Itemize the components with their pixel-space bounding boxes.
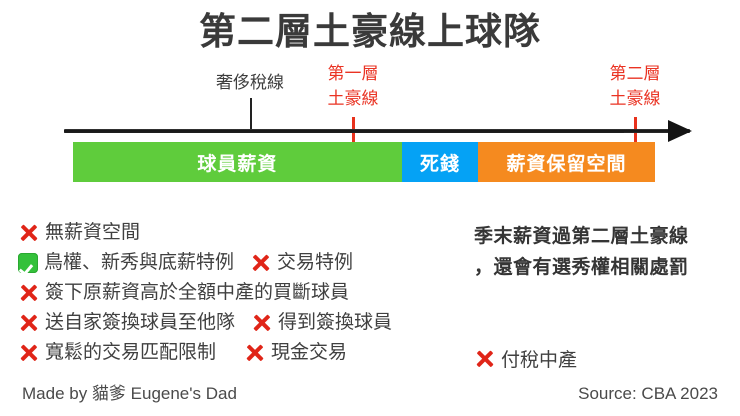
cross-icon [18, 223, 39, 244]
bar-segment-player-salary: 球員薪資 [73, 142, 402, 182]
axis-arrow-icon [668, 120, 692, 142]
footer-credit: Made by 貓爹 Eugene's Dad [22, 379, 237, 404]
restriction-label: 寬鬆的交易匹配限制 [45, 342, 216, 364]
list-item: 寬鬆的交易匹配限制 現金交易 [18, 338, 488, 368]
tick-luxury-tax-line [250, 98, 252, 131]
axis-label-luxury-tax-line: 奢侈稅線 [190, 72, 310, 93]
restriction-label: 交易特例 [277, 252, 353, 274]
bar-segment-salary-reserve-space: 薪資保留空間 [478, 142, 655, 182]
axis-label-first-apron-line1: 第一層 [313, 63, 393, 84]
restriction-label: 得到簽換球員 [278, 312, 392, 334]
list-item: 無薪資空間 [18, 218, 488, 248]
penalty-note-line-1: 季末薪資過第二層土豪線 [474, 221, 726, 252]
list-item: 簽下原薪資高於全額中產的買斷球員 [18, 278, 488, 308]
cross-icon [18, 313, 39, 334]
salary-cap-bar: 球員薪資 死錢 薪資保留空間 [73, 142, 655, 182]
restriction-label: 無薪資空間 [45, 222, 140, 244]
check-icon [18, 253, 38, 273]
axis-label-first-apron-line2: 土豪線 [313, 88, 393, 109]
bar-segment-dead-money: 死錢 [402, 142, 478, 182]
restriction-item: 簽下原薪資高於全額中產的買斷球員 [18, 282, 349, 304]
page-title: 第二層土豪線上球隊 [0, 8, 740, 56]
infographic-canvas: 第二層土豪線上球隊 奢侈稅線 第一層 土豪線 第二層 土豪線 球員薪資 死錢 薪… [0, 0, 740, 416]
cross-icon [244, 343, 265, 364]
restriction-item: 鳥權、新秀與底薪特例 [18, 252, 234, 274]
restriction-label: 送自家簽換球員至他隊 [45, 312, 235, 334]
cross-icon [18, 343, 39, 364]
restriction-label: 付稅中產 [501, 345, 577, 372]
axis-label-second-apron-line2: 土豪線 [595, 88, 675, 109]
axis-label-second-apron-line1: 第二層 [595, 63, 675, 84]
list-item: 鳥權、新秀與底薪特例 交易特例 [18, 248, 488, 278]
restriction-list: 無薪資空間 鳥權、新秀與底薪特例 交易特例 簽下原薪資高於全額中產的買斷球員 送… [18, 218, 488, 368]
footer-source: Source: CBA 2023 [578, 384, 718, 404]
axis-line [64, 129, 690, 133]
penalty-note-line-2: ，還會有選秀權相關處罰 [474, 252, 726, 283]
restriction-label: 鳥權、新秀與底薪特例 [44, 252, 234, 274]
restriction-item: 寬鬆的交易匹配限制 [18, 342, 216, 364]
restriction-label: 簽下原薪資高於全額中產的買斷球員 [45, 282, 349, 304]
penalty-note: 季末薪資過第二層土豪線 ，還會有選秀權相關處罰 [474, 221, 726, 283]
restriction-item: 無薪資空間 [18, 222, 140, 244]
cross-icon [250, 253, 271, 274]
restriction-label: 現金交易 [271, 342, 347, 364]
restriction-item: 交易特例 [250, 252, 353, 274]
restriction-item: 得到簽換球員 [251, 312, 392, 334]
cross-icon [251, 313, 272, 334]
restriction-item: 送自家簽換球員至他隊 [18, 312, 235, 334]
list-item: 送自家簽換球員至他隊 得到簽換球員 [18, 308, 488, 338]
cross-icon [18, 283, 39, 304]
restriction-item-taxpayer-mle: 付稅中產 [474, 345, 577, 372]
restriction-item: 現金交易 [244, 342, 347, 364]
cross-icon [474, 348, 495, 369]
